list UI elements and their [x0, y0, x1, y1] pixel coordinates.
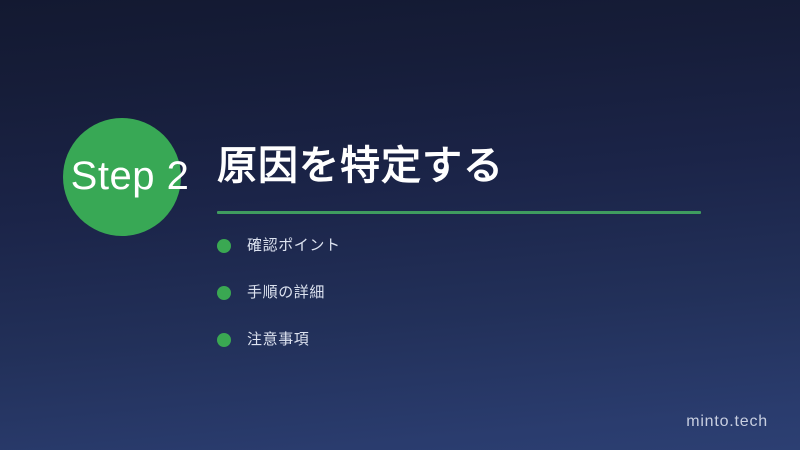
footer-brand: minto.tech — [686, 412, 768, 432]
step-label: Step 2 — [40, 154, 220, 198]
step-badge: Step 2 — [40, 118, 220, 236]
bullet-dot-icon — [217, 333, 231, 347]
heading-divider — [217, 211, 701, 214]
slide-content: 原因を特定する 確認ポイント 手順の詳細 注意事項 — [217, 140, 717, 377]
bullet-list: 確認ポイント 手順の詳細 注意事項 — [217, 236, 717, 350]
list-item-label: 確認ポイント — [247, 236, 341, 256]
list-item: 確認ポイント — [217, 236, 717, 256]
bullet-dot-icon — [217, 239, 231, 253]
list-item: 注意事項 — [217, 330, 717, 350]
list-item-label: 手順の詳細 — [247, 283, 325, 303]
slide-canvas: Step 2 原因を特定する 確認ポイント 手順の詳細 注意事項 minto.t… — [0, 0, 800, 450]
slide-heading: 原因を特定する — [217, 140, 717, 192]
list-item-label: 注意事項 — [247, 330, 309, 350]
bullet-dot-icon — [217, 286, 231, 300]
list-item: 手順の詳細 — [217, 283, 717, 303]
